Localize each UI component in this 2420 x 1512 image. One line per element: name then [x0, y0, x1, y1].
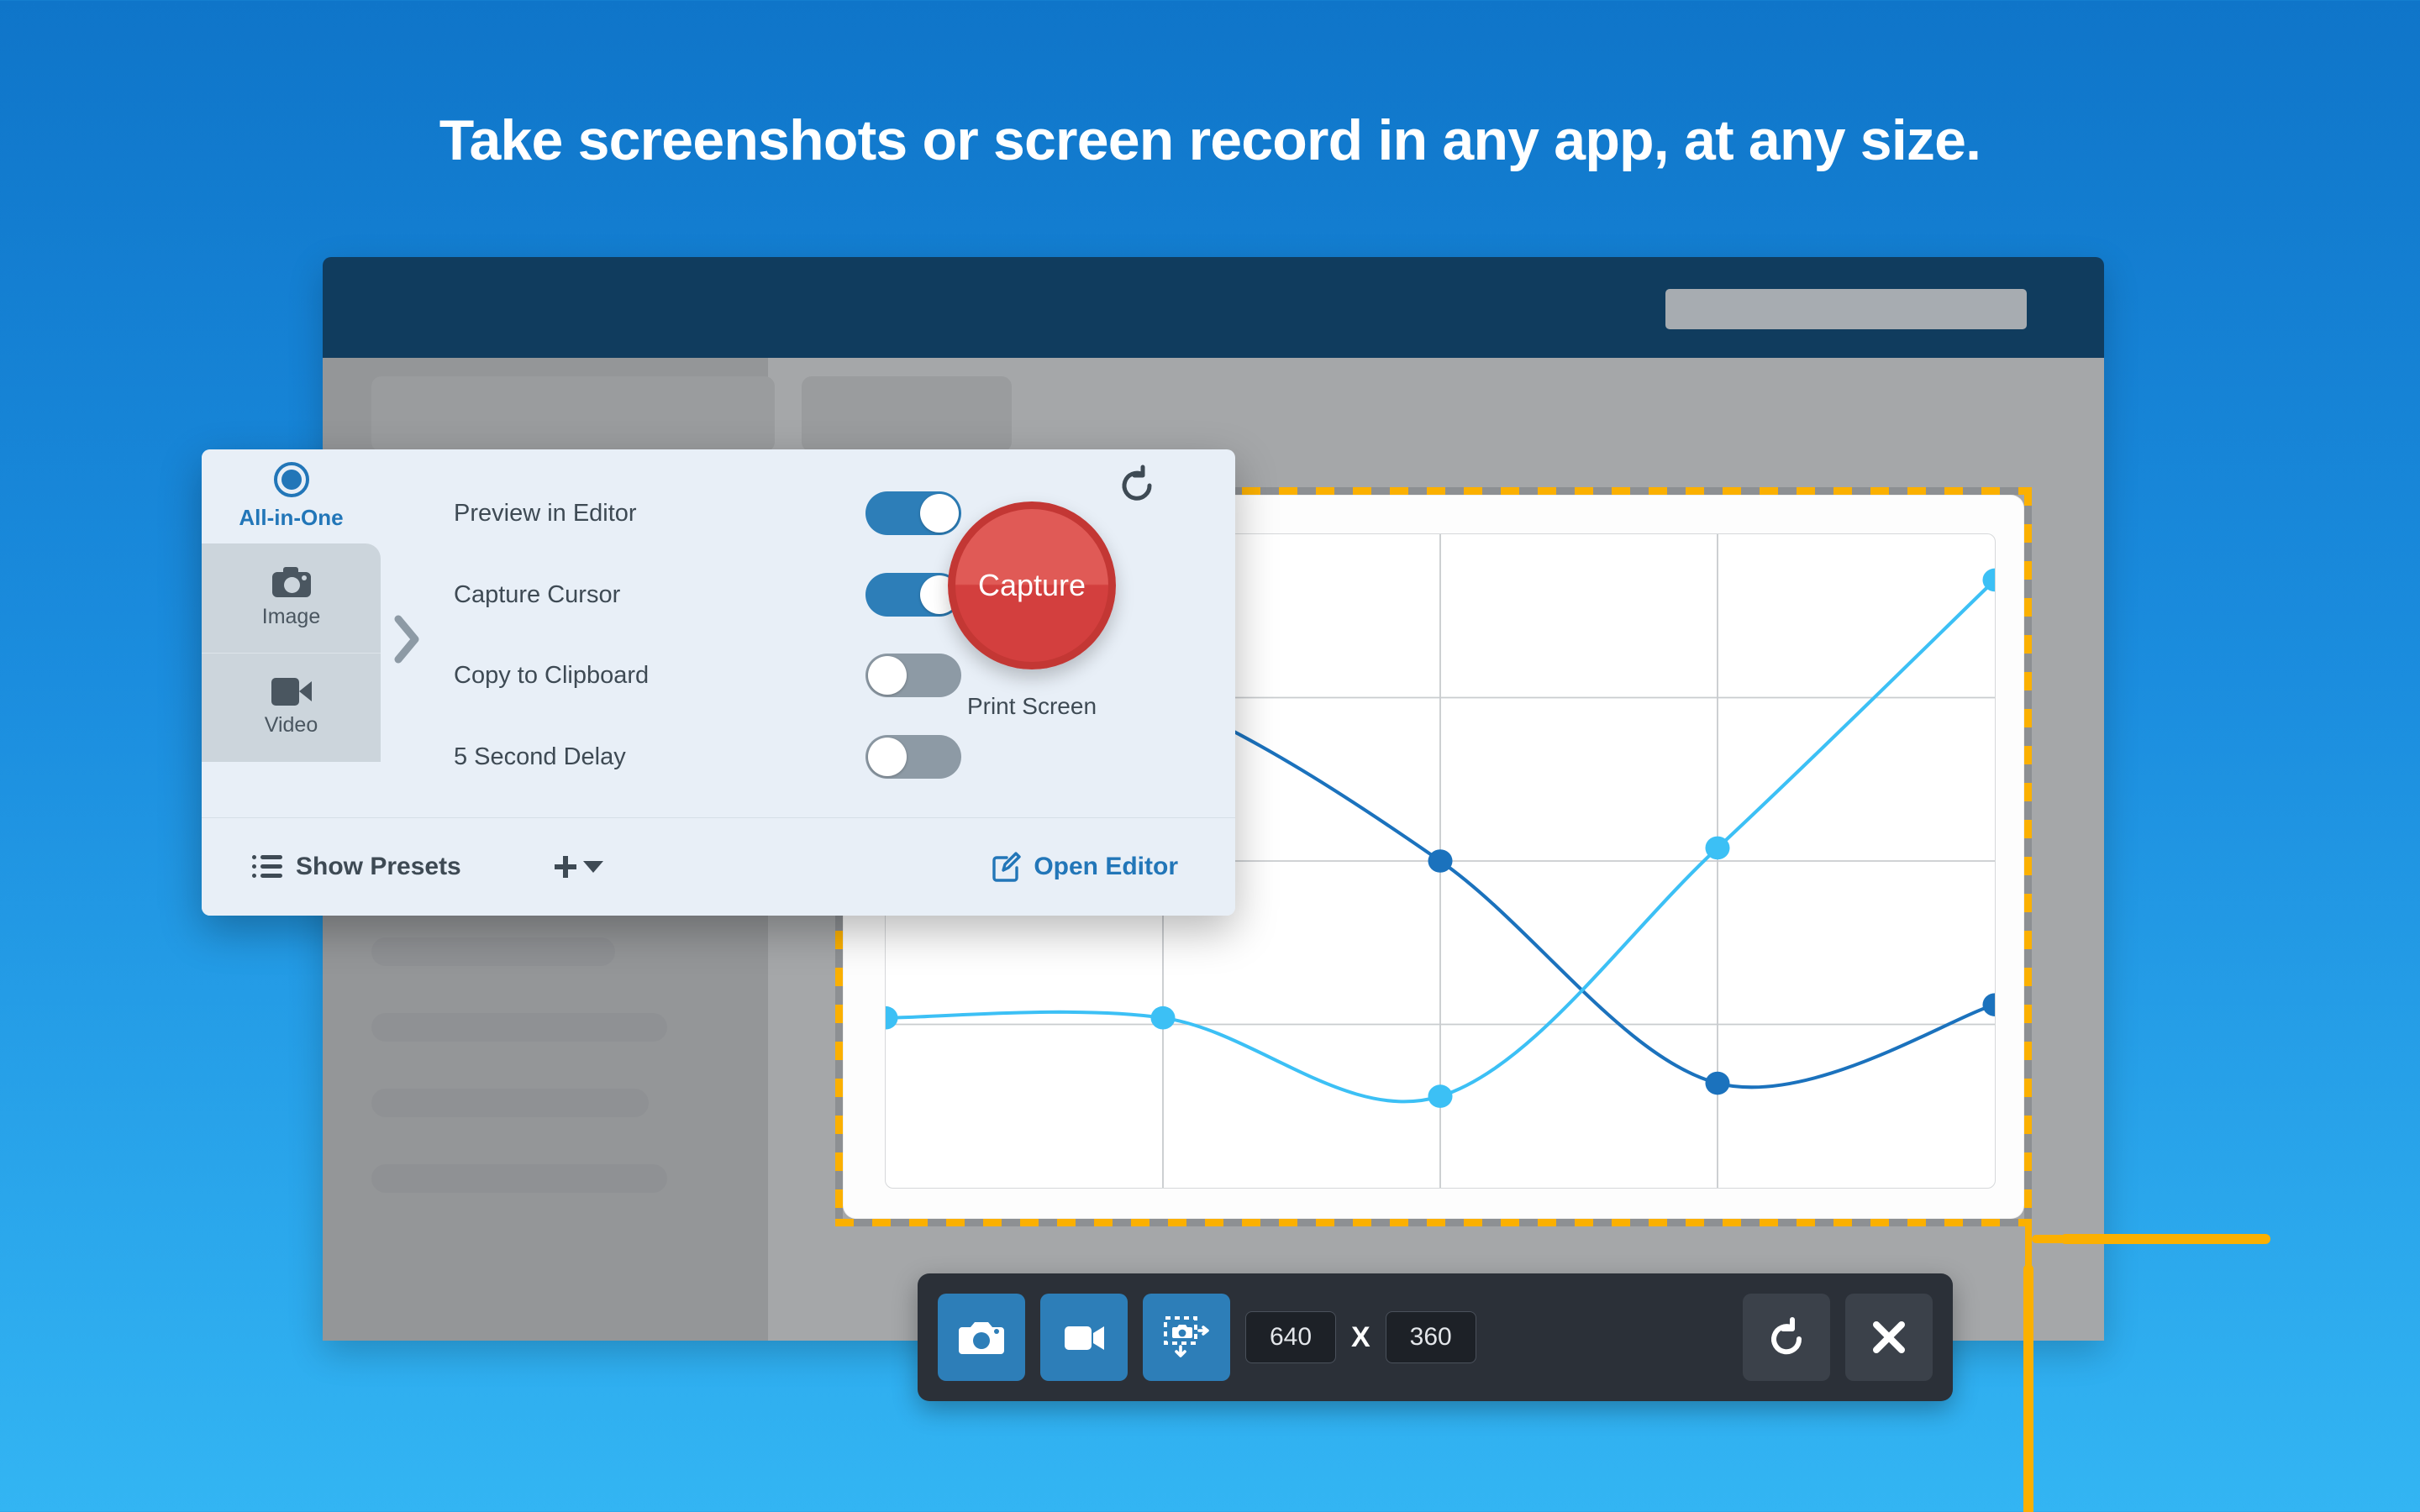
capture-button[interactable]: Capture — [948, 501, 1116, 669]
skeleton-bar — [371, 1164, 667, 1193]
capture-control-panel: All-in-One Image Video Preview in Editor — [202, 449, 1235, 916]
panel-main-area: All-in-One Image Video Preview in Editor — [202, 449, 1235, 817]
chart-data-point — [1705, 1072, 1729, 1095]
tab-video-label: Video — [265, 713, 318, 738]
tab-all-in-one-label: All-in-One — [239, 505, 343, 531]
chart-data-point — [1982, 993, 1995, 1016]
show-presets-button[interactable]: Show Presets — [252, 853, 461, 881]
video-camera-icon — [1060, 1313, 1108, 1362]
tab-video[interactable]: Video — [202, 653, 381, 762]
chart-data-point — [1428, 849, 1452, 873]
caret-down-icon — [583, 861, 603, 873]
capture-button-label: Capture — [978, 568, 1086, 603]
skeleton-bar — [371, 1089, 649, 1117]
radio-target-icon — [274, 462, 309, 497]
toolbar-reset-button[interactable] — [1743, 1294, 1830, 1381]
size-separator: X — [1351, 1321, 1370, 1354]
chart-data-point — [1150, 1006, 1175, 1030]
capture-shortcut-label: Print Screen — [907, 693, 1156, 720]
reset-arrow-icon[interactable] — [1118, 465, 1156, 503]
chart-data-point — [886, 1006, 898, 1030]
skeleton-bar — [371, 1013, 667, 1042]
reset-arrow-icon — [1762, 1313, 1811, 1362]
option-label: 5 Second Delay — [454, 743, 626, 771]
camera-icon — [957, 1313, 1006, 1362]
sidebar-placeholder-card — [371, 376, 775, 452]
capture-options-list: Preview in Editor Capture Cursor Copy to… — [454, 449, 849, 817]
capture-action-area: Capture Print Screen — [907, 449, 1235, 817]
toolbar-capture-video-button[interactable] — [1040, 1294, 1128, 1381]
tab-all-in-one[interactable]: All-in-One — [202, 449, 381, 543]
chevron-right-icon — [393, 614, 422, 664]
chart-data-point — [1428, 1084, 1452, 1108]
plus-icon — [555, 856, 576, 878]
tab-image-label: Image — [262, 605, 320, 629]
option-label: Copy to Clipboard — [454, 662, 649, 690]
video-camera-icon — [271, 678, 312, 706]
capture-toolbar: 640 X 360 — [918, 1273, 1953, 1401]
option-row-preview-in-editor: Preview in Editor — [454, 491, 849, 535]
selection-guide-vertical — [2023, 1264, 2033, 1512]
close-x-icon — [1865, 1313, 1913, 1362]
app-title-bar — [323, 257, 2104, 358]
toggle-knob — [868, 656, 907, 695]
scrolling-capture-icon — [1162, 1313, 1211, 1362]
option-label: Preview in Editor — [454, 500, 637, 528]
toolbar-close-button[interactable] — [1845, 1294, 1933, 1381]
open-editor-button[interactable]: Open Editor — [992, 852, 1178, 882]
option-row-copy-to-clipboard: Copy to Clipboard — [454, 654, 849, 697]
skeleton-bar — [371, 937, 615, 966]
option-row-capture-cursor: Capture Cursor — [454, 573, 849, 617]
tab-image[interactable]: Image — [202, 543, 381, 653]
chart-data-point — [1705, 837, 1729, 860]
capture-height-input[interactable]: 360 — [1386, 1311, 1476, 1363]
option-label: Capture Cursor — [454, 581, 620, 609]
toggle-knob — [868, 738, 907, 776]
camera-icon — [272, 567, 311, 597]
panel-footer: Show Presets Open Editor — [202, 817, 1235, 916]
capture-width-input[interactable]: 640 — [1245, 1311, 1336, 1363]
page-title: Take screenshots or screen record in any… — [0, 108, 2420, 173]
option-row-5-second-delay: 5 Second Delay — [454, 735, 849, 779]
content-placeholder-card — [802, 376, 1012, 452]
toolbar-capture-image-button[interactable] — [938, 1294, 1025, 1381]
bulleted-list-icon — [252, 855, 282, 879]
toolbar-scrolling-capture-button[interactable] — [1143, 1294, 1230, 1381]
open-editor-label: Open Editor — [1034, 853, 1178, 881]
capture-mode-tabs: All-in-One Image Video — [202, 449, 381, 817]
add-preset-dropdown[interactable] — [555, 856, 603, 878]
show-presets-label: Show Presets — [296, 853, 461, 881]
selection-guide-horizontal — [2060, 1234, 2270, 1244]
titlebar-placeholder-block — [1665, 289, 2027, 329]
edit-pencil-square-icon — [992, 852, 1022, 882]
